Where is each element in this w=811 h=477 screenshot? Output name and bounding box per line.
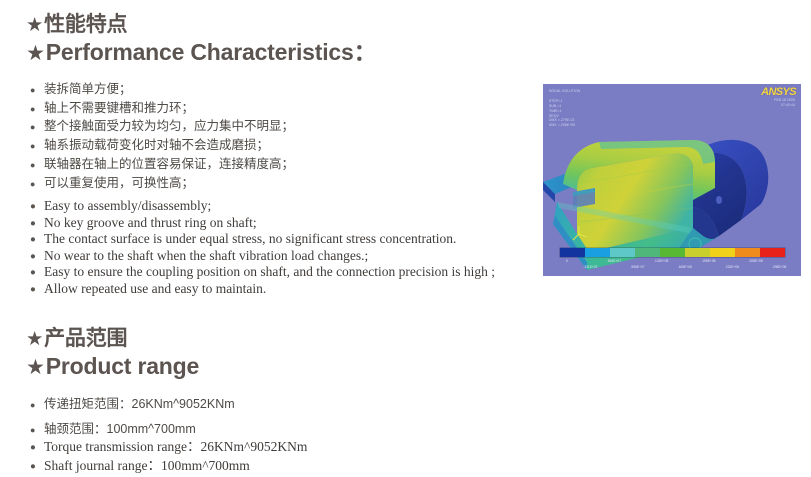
performance-heading-en: ★Performance Characteristics： — [26, 38, 376, 68]
colorbar-band-2 — [610, 248, 635, 257]
colorbar-band-3 — [635, 248, 660, 257]
dot-bullet-icon: ● — [30, 282, 36, 299]
performance-heading-block: ★性能特点 ★Performance Characteristics： — [26, 12, 376, 68]
colorbar-tick-label: 0 — [566, 259, 568, 263]
dot-bullet-icon: ● — [30, 175, 35, 194]
colorbar-tick-label: .864E+07 — [607, 259, 621, 263]
list-item: ●联轴器在轴上的位置容易保证，连接精度高； — [30, 155, 294, 174]
dot-bullet-icon: ● — [30, 249, 36, 266]
colorbar-band-0 — [560, 248, 585, 257]
colorbar-band-5 — [685, 248, 710, 257]
star-bullet-icon: ★ — [26, 353, 45, 382]
list-item: ●轴系振动载荷变化时对轴不会造成磨损； — [30, 136, 294, 155]
list-item-text: 轴上不需要键槽和推力环； — [44, 101, 194, 115]
product-range-heading-cn: ★产品范围 — [26, 326, 199, 352]
list-item: ●可以重复使用，可换性高； — [30, 174, 294, 193]
list-item-text: 传递扭矩范围：26KNm^9052KNm — [44, 397, 235, 411]
colorbar-tick-label: .232E+08 — [725, 265, 739, 269]
colorbar-tick-label: .331E+07 — [583, 265, 597, 269]
dot-bullet-icon: ● — [30, 118, 35, 137]
list-item-text: No wear to the shaft when the shaft vibr… — [44, 248, 368, 263]
list-item: ●Shaft journal range：100mm^700mm — [30, 456, 307, 475]
colorbar-tick-label: .132E+08 — [654, 259, 668, 263]
product-range-bullet-list-en: ●Torque transmission range：26KNm^9052KNm… — [30, 437, 307, 475]
product-range-heading-en: ★Product range — [26, 352, 199, 382]
list-item: ●装拆简单方便； — [30, 80, 294, 99]
dot-bullet-icon: ● — [30, 137, 35, 156]
dot-bullet-icon: ● — [30, 393, 35, 418]
list-item-text: 可以重复使用，可换性高； — [44, 176, 194, 190]
list-item-text: Shaft journal range：100mm^700mm — [44, 458, 250, 473]
list-item-text: 轴系振动载荷变化时对轴不会造成磨损； — [44, 138, 269, 152]
dot-bullet-icon: ● — [30, 438, 36, 457]
star-bullet-icon: ★ — [26, 327, 43, 352]
ansys-logo: ANSYS — [761, 86, 796, 98]
colorbar-band-6 — [710, 248, 735, 257]
list-item-text: Allow repeated use and easy to maintain. — [44, 281, 266, 296]
list-item-text: 轴颈范围：100mm^700mm — [44, 422, 196, 436]
product-range-bullet-list-cn: ●传递扭矩范围：26KNm^9052KNm ●轴颈范围：100mm^700mm — [30, 392, 235, 442]
list-item-text: Easy to ensure the coupling position on … — [44, 264, 495, 279]
list-item: ●Torque transmission range：26KNm^9052KNm — [30, 437, 307, 456]
list-item: ●Allow repeated use and easy to maintain… — [30, 281, 495, 298]
colorbar-tick-label: .198E+08 — [701, 259, 715, 263]
list-item-text: 装拆简单方便； — [44, 82, 132, 96]
dot-bullet-icon: ● — [30, 265, 36, 282]
list-item-text: No key groove and thrust ring on shaft; — [44, 215, 257, 230]
product-range-heading-en-text: Product range — [46, 353, 199, 379]
list-item: ●No key groove and thrust ring on shaft; — [30, 215, 495, 232]
list-item: ●Easy to assembly/disassembly; — [30, 198, 495, 215]
colorbar-band-7 — [735, 248, 760, 257]
product-range-heading-cn-text: 产品范围 — [44, 327, 127, 350]
dot-bullet-icon: ● — [30, 100, 35, 119]
star-bullet-icon: ★ — [26, 39, 45, 68]
dot-bullet-icon: ● — [30, 156, 35, 175]
list-item: ●传递扭矩范围：26KNm^9052KNm — [30, 392, 235, 417]
dot-bullet-icon: ● — [30, 81, 35, 100]
performance-heading-cn: ★性能特点 — [26, 12, 376, 38]
list-item: ●Easy to ensure the coupling position on… — [30, 264, 495, 281]
colorbar-tick-label: .165E+08 — [678, 265, 692, 269]
list-item: ●No wear to the shaft when the shaft vib… — [30, 248, 495, 265]
list-item-text: The contact surface is under equal stres… — [44, 231, 456, 246]
colorbar-tick-label: .298E+08 — [772, 265, 786, 269]
fea-colorbar-labels-bottom: .331E+07.996E+07.165E+08.232E+08.298E+08 — [555, 265, 791, 270]
product-range-heading-block: ★产品范围 ★Product range — [26, 326, 199, 382]
colorbar-tick-label: .996E+07 — [630, 265, 644, 269]
fea-contour-colorbar — [560, 248, 785, 257]
colorbar-band-8 — [760, 248, 785, 257]
list-item: ●整个接触面受力较为均匀，应力集中不明显； — [30, 117, 294, 136]
dot-bullet-icon: ● — [30, 216, 36, 233]
performance-bullet-list-en: ●Easy to assembly/disassembly; ●No key g… — [30, 198, 495, 297]
performance-heading-en-text: Performance Characteristics： — [46, 39, 377, 65]
list-item-text: 整个接触面受力较为均匀，应力集中不明显； — [44, 119, 294, 133]
fea-date-annotation: FEB 18 2009 07:40:44 — [774, 98, 795, 108]
list-item-text: 联轴器在轴上的位置容易保证，连接精度高； — [44, 157, 294, 171]
star-bullet-icon: ★ — [26, 13, 43, 38]
colorbar-tick-label: .265E+08 — [748, 259, 762, 263]
performance-heading-cn-text: 性能特点 — [44, 13, 127, 36]
fea-colorbar-labels-top: 0.864E+07.132E+08.198E+08.265E+08 — [555, 259, 791, 264]
colorbar-band-4 — [660, 248, 685, 257]
dot-bullet-icon: ● — [30, 457, 36, 476]
colorbar-band-1 — [585, 248, 610, 257]
list-item: ●轴上不需要键槽和推力环； — [30, 99, 294, 118]
list-item-text: Easy to assembly/disassembly; — [44, 198, 211, 213]
ansys-fea-stress-plot: NODAL SOLUTION STEP=1 SUB =1 TIME=1 SEQV… — [543, 84, 801, 276]
list-item: ●The contact surface is under equal stre… — [30, 231, 495, 248]
dot-bullet-icon: ● — [30, 199, 36, 216]
performance-bullet-list-cn: ●装拆简单方便； ●轴上不需要键槽和推力环； ●整个接触面受力较为均匀，应力集中… — [30, 80, 294, 192]
list-item-text: Torque transmission range：26KNm^9052KNm — [44, 439, 307, 454]
fea-header-annotation: NODAL SOLUTION STEP=1 SUB =1 TIME=1 SEQV… — [549, 89, 580, 128]
dot-bullet-icon: ● — [30, 232, 36, 249]
